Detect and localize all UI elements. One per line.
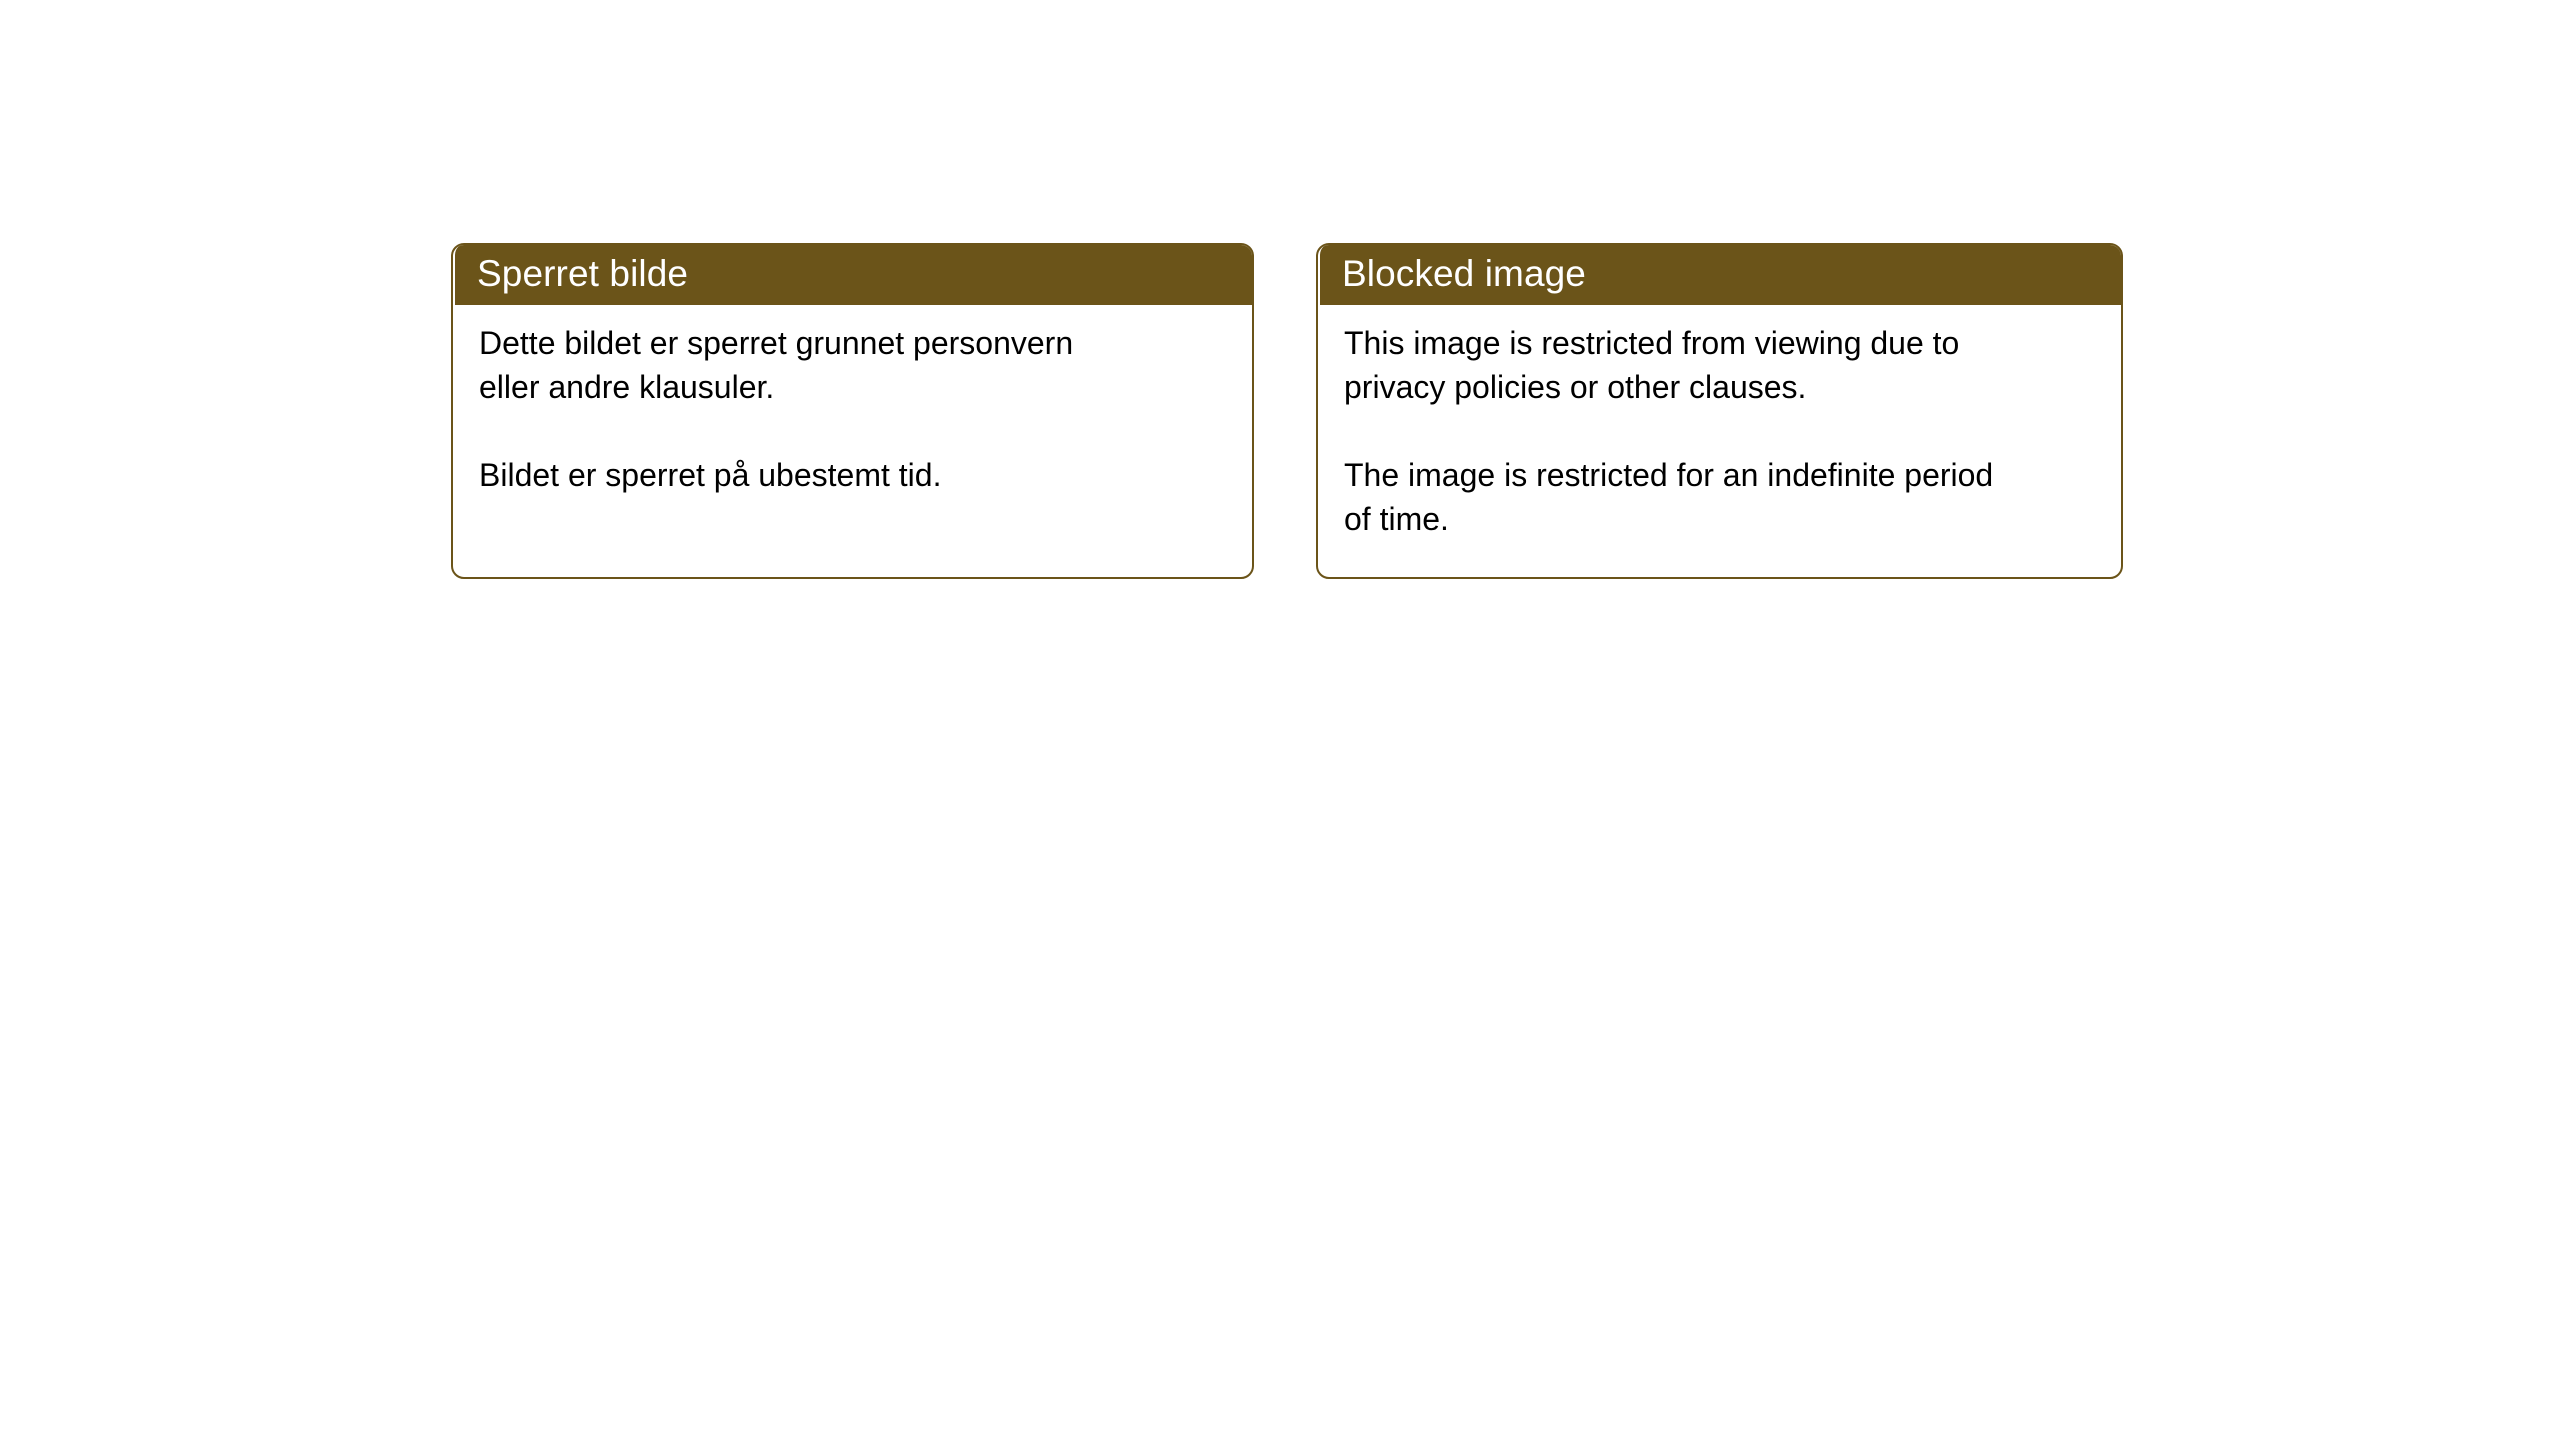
card-title-english: Blocked image [1342, 254, 1586, 294]
card-title-norwegian: Sperret bilde [477, 254, 688, 294]
card-paragraph-duration-english: The image is restricted for an indefinit… [1344, 453, 2084, 541]
card-paragraph-privacy-english: This image is restricted from viewing du… [1344, 321, 2084, 409]
card-paragraph-duration-norwegian: Bildet er sperret på ubestemt tid. [479, 453, 1199, 497]
card-body-norwegian: Dette bildet er sperret grunnet personve… [453, 307, 1252, 577]
blocked-image-notice-stage: Sperret bilde Dette bildet er sperret gr… [0, 0, 2560, 1440]
paragraph-spacer [1344, 409, 2101, 453]
card-paragraph-privacy-norwegian: Dette bildet er sperret grunnet personve… [479, 321, 1199, 409]
blocked-image-card-english: Blocked image This image is restricted f… [1316, 243, 2123, 579]
paragraph-spacer [479, 409, 1232, 453]
card-header-english: Blocked image [1320, 243, 2123, 305]
card-header-norwegian: Sperret bilde [455, 243, 1254, 305]
card-body-english: This image is restricted from viewing du… [1318, 307, 2121, 577]
blocked-image-card-norwegian: Sperret bilde Dette bildet er sperret gr… [451, 243, 1254, 579]
